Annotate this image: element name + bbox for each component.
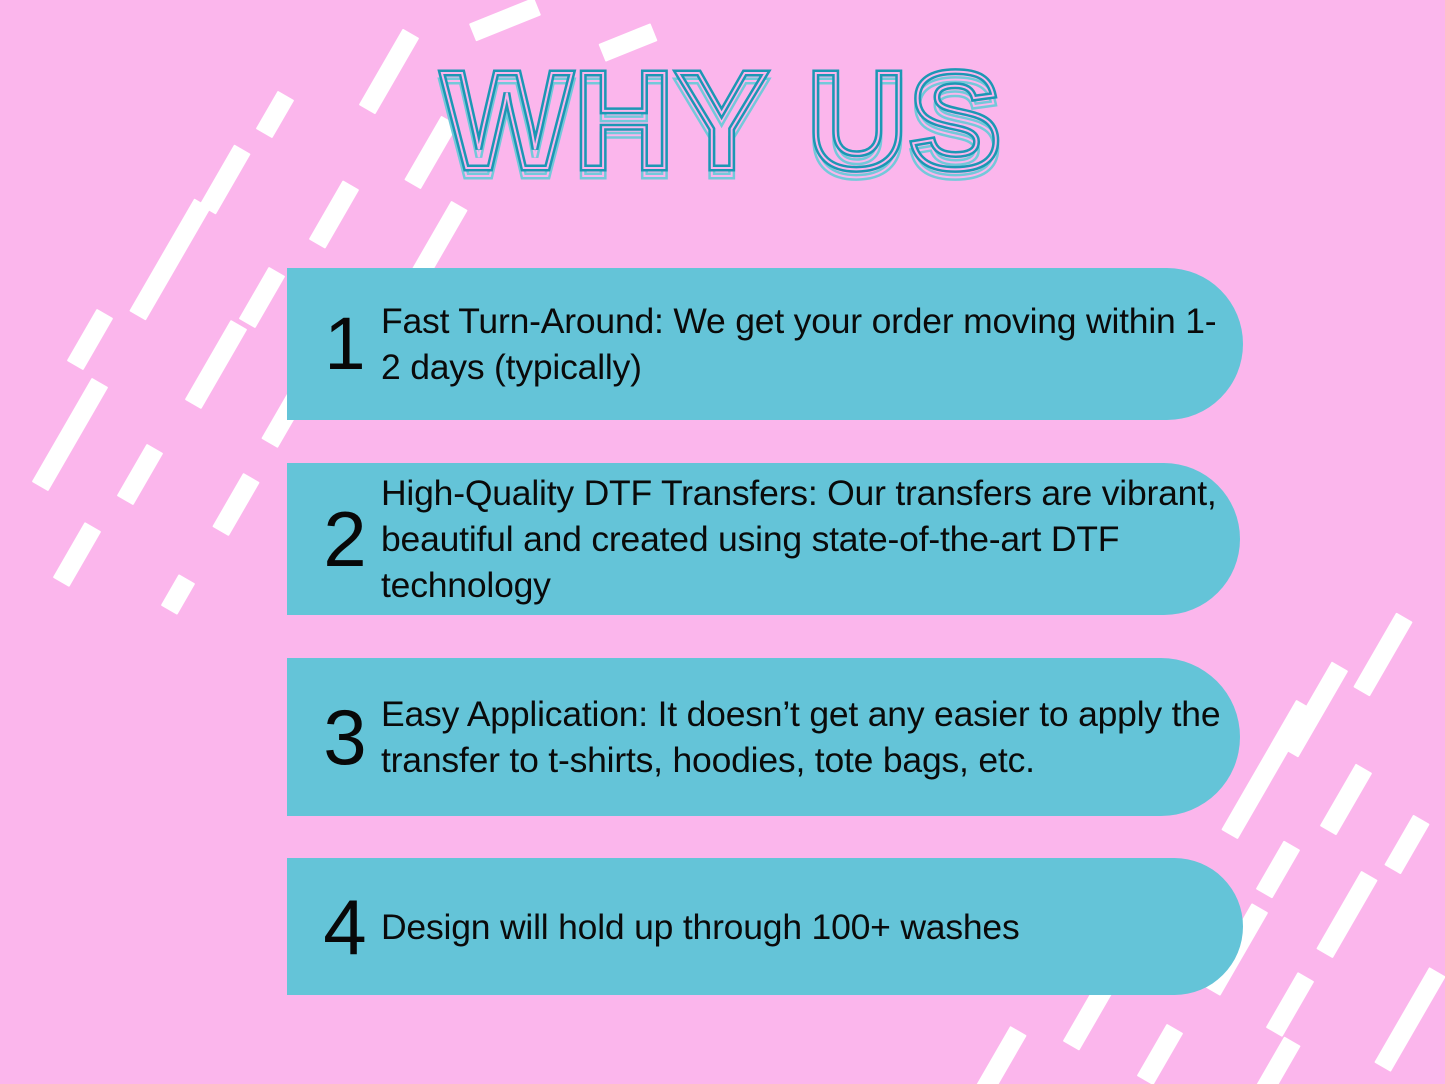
poster-canvas: WHY US WHY US WHY US WHY US 1 Fast Turn-… <box>0 0 1445 1084</box>
list-item: 3 Easy Application: It doesn’t get any e… <box>287 658 1240 816</box>
dash-mark <box>185 320 247 409</box>
list-item: 1 Fast Turn-Around: We get your order mo… <box>287 268 1243 420</box>
list-item: 4 Design will hold up through 100+ washe… <box>287 858 1243 995</box>
dash-mark <box>53 522 101 587</box>
list-item: 2 High-Quality DTF Transfers: Our transf… <box>287 463 1240 615</box>
dash-mark <box>1353 613 1412 697</box>
dash-mark <box>67 309 113 370</box>
dash-mark <box>1266 972 1314 1037</box>
dash-mark <box>239 267 285 328</box>
list-item-number: 1 <box>309 307 381 381</box>
list-item-text: Design will hold up through 100+ washes <box>381 904 1243 950</box>
dash-mark <box>161 574 195 615</box>
dash-mark <box>469 0 541 41</box>
list-item-number: 4 <box>309 888 381 966</box>
page-title: WHY US WHY US WHY US WHY US <box>0 46 1445 196</box>
list-item-text: Fast Turn-Around: We get your order movi… <box>381 298 1243 390</box>
dash-mark <box>1137 1024 1183 1084</box>
list-item-text: Easy Application: It doesn’t get any eas… <box>381 691 1240 783</box>
dash-mark <box>117 444 163 505</box>
list-item-text: High-Quality DTF Transfers: Our transfer… <box>381 470 1240 608</box>
dash-mark <box>32 378 108 491</box>
list-item-number: 3 <box>309 698 381 776</box>
title-main-inner: WHY US <box>0 46 1445 196</box>
dash-mark <box>1256 841 1300 899</box>
dash-mark <box>1384 815 1429 875</box>
dash-mark <box>1249 1036 1300 1084</box>
dash-mark <box>212 473 259 536</box>
dash-mark <box>1282 661 1348 757</box>
dash-mark <box>971 1026 1026 1084</box>
dash-mark <box>1374 967 1445 1072</box>
dash-mark <box>1316 871 1377 958</box>
list-item-number: 2 <box>309 500 381 578</box>
dash-mark <box>1320 764 1372 836</box>
dash-mark <box>129 198 210 320</box>
